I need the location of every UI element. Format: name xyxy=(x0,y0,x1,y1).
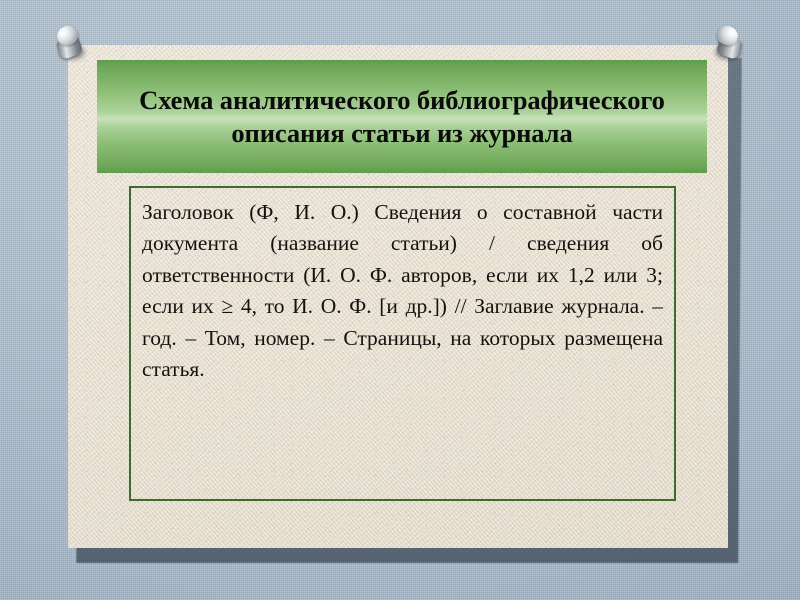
pushpin-left-icon xyxy=(53,25,87,65)
page-title: Схема аналитического библиографического … xyxy=(97,84,707,150)
description-box: Заголовок (Ф, И. О.) Сведения о составно… xyxy=(129,186,676,501)
title-banner: Схема аналитического библиографического … xyxy=(97,60,707,173)
paper-sheet: Схема аналитического библиографического … xyxy=(68,45,728,548)
description-text: Заголовок (Ф, И. О.) Сведения о составно… xyxy=(142,197,663,385)
slide-canvas: Схема аналитического библиографического … xyxy=(0,0,800,600)
pushpin-right-icon xyxy=(713,25,747,65)
